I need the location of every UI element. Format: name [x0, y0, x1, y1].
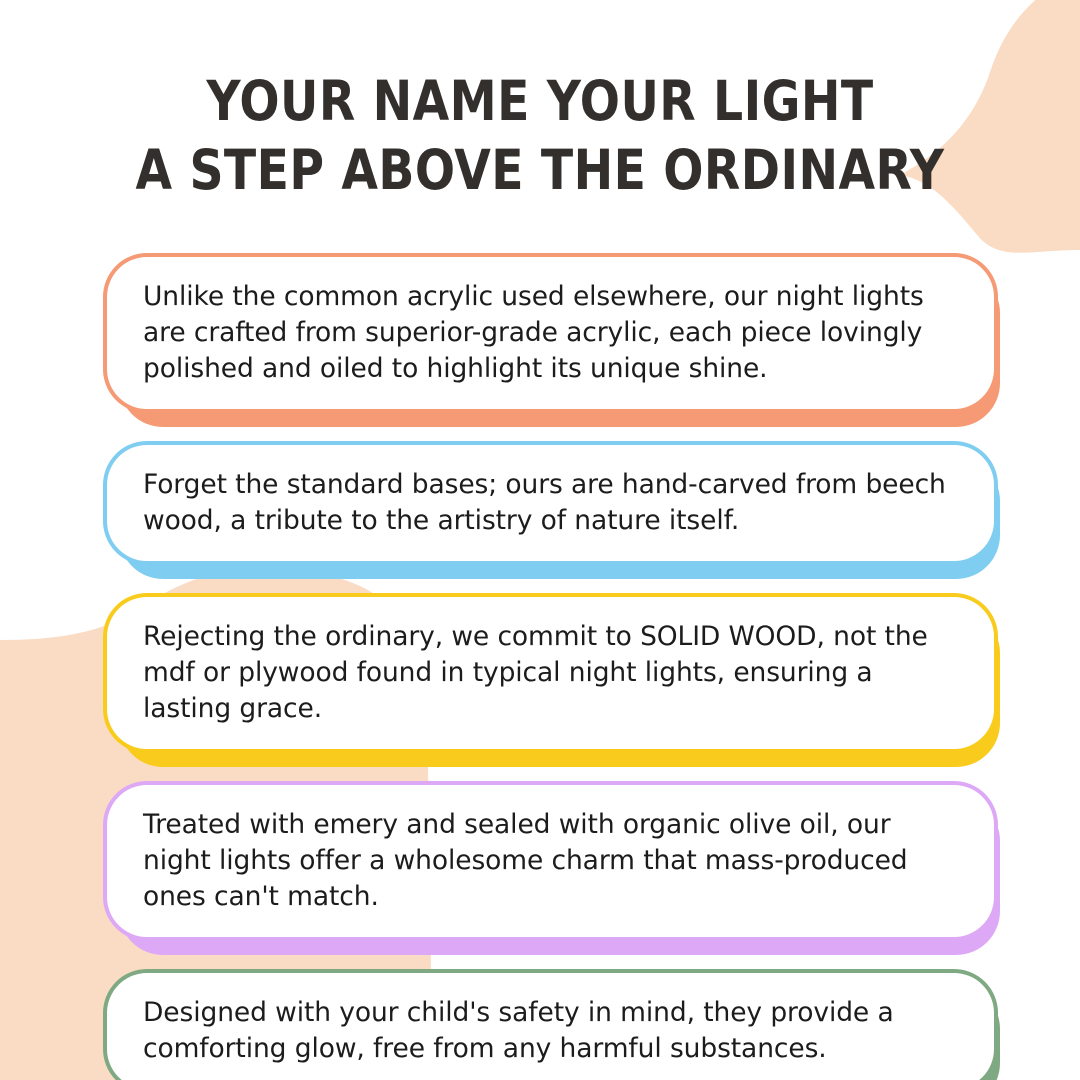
poster-canvas: YOUR NAME YOUR LIGHT A STEP ABOVE THE OR… [0, 0, 1080, 1080]
card-body: Treated with emery and sealed with organ… [103, 781, 998, 941]
card-body: Forget the standard bases; ours are hand… [103, 441, 998, 565]
card-body: Unlike the common acrylic used elsewhere… [103, 253, 998, 413]
feature-card-olive-oil: Treated with emery and sealed with organ… [103, 781, 998, 941]
feature-card-beech-wood: Forget the standard bases; ours are hand… [103, 441, 998, 565]
feature-card-list: Unlike the common acrylic used elsewhere… [103, 253, 998, 1080]
card-text: Designed with your child's safety in min… [143, 995, 960, 1067]
page-title: YOUR NAME YOUR LIGHT A STEP ABOVE THE OR… [0, 72, 1080, 201]
page-title-line-1: YOUR NAME YOUR LIGHT [76, 72, 1005, 131]
feature-card-acrylic: Unlike the common acrylic used elsewhere… [103, 253, 998, 413]
feature-card-solid-wood: Rejecting the ordinary, we commit to SOL… [103, 593, 998, 753]
feature-card-child-safety: Designed with your child's safety in min… [103, 969, 998, 1080]
page-title-line-2: A STEP ABOVE THE ORDINARY [76, 141, 1005, 200]
card-text: Rejecting the ordinary, we commit to SOL… [143, 619, 960, 727]
card-text: Unlike the common acrylic used elsewhere… [143, 279, 960, 387]
card-body: Designed with your child's safety in min… [103, 969, 998, 1080]
card-body: Rejecting the ordinary, we commit to SOL… [103, 593, 998, 753]
card-text: Forget the standard bases; ours are hand… [143, 467, 960, 539]
card-text: Treated with emery and sealed with organ… [143, 807, 960, 915]
